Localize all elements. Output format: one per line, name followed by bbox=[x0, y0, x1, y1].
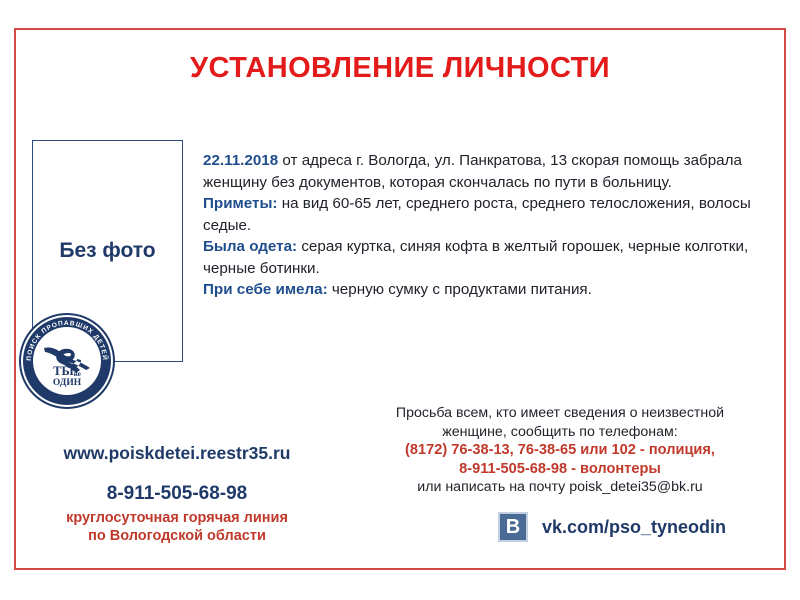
website-link[interactable]: www.poiskdetei.reestr35.ru bbox=[22, 443, 332, 464]
photo-placeholder-label: Без фото bbox=[59, 239, 155, 263]
organization-logo: ПОИСК ПРОПАВШИХ ДЕТЕЙ Вологодская област… bbox=[18, 312, 116, 410]
case-description: 22.11.2018 от адреса г. Вологда, ул. Пан… bbox=[203, 150, 773, 301]
svg-text:ОДИН: ОДИН bbox=[53, 378, 82, 388]
page-title: УСТАНОВЛЕНИЕ ЛИЧНОСТИ bbox=[14, 52, 786, 85]
description-intro-paragraph: 22.11.2018 от адреса г. Вологда, ул. Пан… bbox=[203, 150, 773, 193]
appeal-email-line[interactable]: или написать на почту poisk_detei35@bk.r… bbox=[345, 478, 775, 497]
hotline-note: круглосуточная горячая линия по Вологодс… bbox=[22, 509, 332, 545]
description-clothes-paragraph: Была одета: серая куртка, синяя кофта в … bbox=[203, 236, 773, 279]
appeal-line-2: женщине, сообщить по телефонам: bbox=[345, 423, 775, 442]
hotline-note-line-1: круглосуточная горячая линия bbox=[22, 509, 332, 527]
description-items-paragraph: При себе имела: черную сумку с продуктам… bbox=[203, 279, 773, 301]
description-signs-paragraph: Приметы: на вид 60-65 лет, среднего рост… bbox=[203, 193, 773, 236]
hotline-note-line-2: по Вологодской области bbox=[22, 527, 332, 545]
appeal-line-1: Просьба всем, кто имеет сведения о неизв… bbox=[345, 404, 775, 423]
items-text: черную сумку с продуктами питания. bbox=[328, 281, 592, 298]
signs-label: Приметы: bbox=[203, 195, 277, 212]
hotline-phone-number[interactable]: 8-911-505-68-98 bbox=[22, 483, 332, 505]
incident-date: 22.11.2018 bbox=[203, 152, 278, 169]
incident-intro-text: от адреса г. Вологда, ул. Панкратова, 13… bbox=[203, 152, 742, 191]
items-label: При себе имела: bbox=[203, 281, 328, 298]
vk-link-label[interactable]: vk.com/pso_tyneodin bbox=[542, 517, 726, 538]
clothes-label: Была одета: bbox=[203, 238, 297, 255]
appeal-police-phones[interactable]: (8172) 76-38-13, 76-38-65 или 102 - поли… bbox=[345, 441, 775, 460]
signs-text: на вид 60-65 лет, среднего роста, средне… bbox=[203, 195, 751, 234]
vk-social-row[interactable]: B vk.com/pso_tyneodin bbox=[498, 512, 726, 542]
appeal-block: Просьба всем, кто имеет сведения о неизв… bbox=[345, 404, 775, 497]
appeal-volunteer-phone[interactable]: 8-911-505-68-98 - волонтеры bbox=[345, 460, 775, 479]
vk-icon[interactable]: B bbox=[498, 512, 528, 542]
poster-root: УСТАНОВЛЕНИЕ ЛИЧНОСТИ Без фото ПОИСК ПРО… bbox=[0, 0, 800, 600]
